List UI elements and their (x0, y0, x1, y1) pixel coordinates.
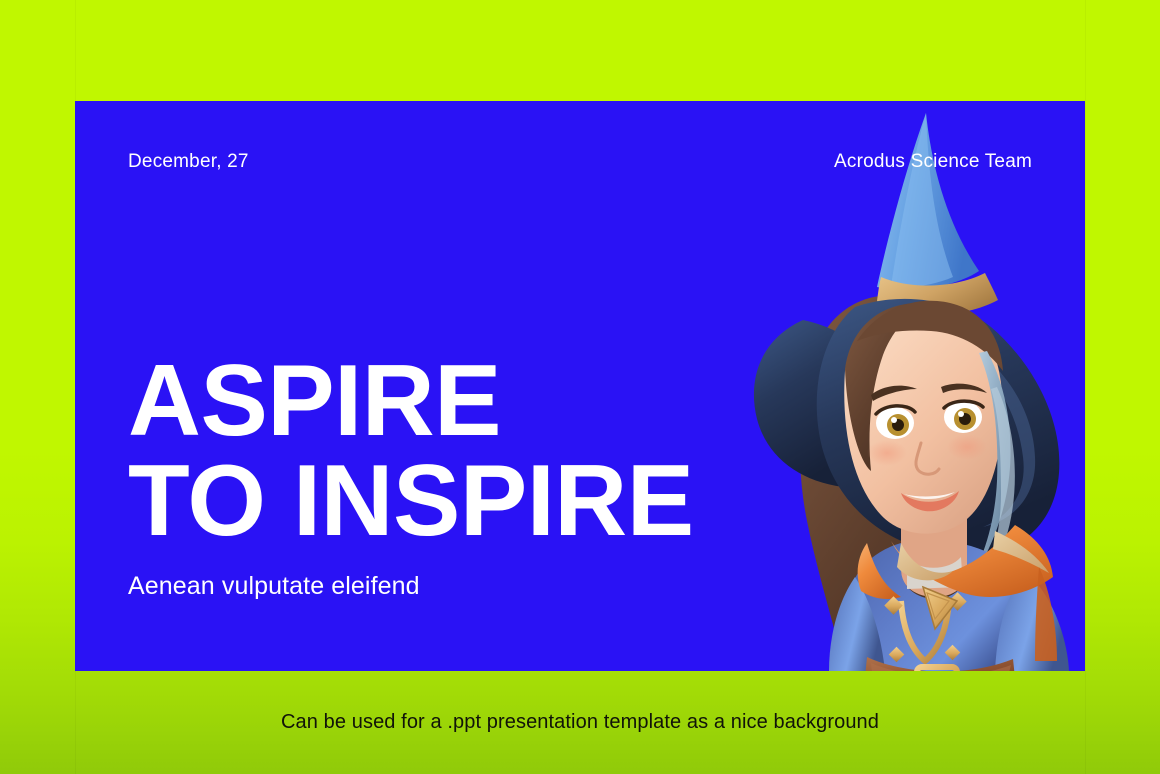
iris-left (887, 414, 909, 436)
cape-left (858, 543, 901, 599)
hair-front-left (845, 303, 925, 471)
robe-torso (843, 543, 1039, 671)
hat-brim-highlight (949, 337, 1035, 527)
robe-gem-left (884, 596, 902, 614)
iris-right (954, 408, 976, 430)
slide-header: December, 27 Acrodus Science Team (128, 151, 1032, 173)
belt (863, 657, 1017, 671)
undershirt (907, 557, 963, 589)
neck (901, 517, 967, 597)
belt-buckle (917, 667, 957, 671)
headline-line-1: ASPIRE (128, 351, 694, 451)
slide-subtitle: Aenean vulputate eleifend (128, 572, 694, 601)
eyelash-left (876, 406, 915, 414)
slide-date: December, 27 (128, 151, 249, 173)
hat-brim-main (817, 299, 1060, 555)
eye-right-white (944, 401, 982, 433)
brooch-engraving (927, 593, 949, 619)
eyebrow-right (941, 384, 987, 393)
presentation-slide: December, 27 Acrodus Science Team ASPIRE… (75, 101, 1085, 671)
eye-highlight-left (891, 417, 897, 423)
face (844, 303, 1002, 534)
belt-highlight (871, 663, 1011, 671)
cheek-right (947, 434, 987, 460)
hat-cone-highlight (891, 113, 953, 287)
robe-gem-right (948, 592, 966, 610)
headline-block: ASPIRE TO INSPIRE Aenean vulputate eleif… (128, 351, 694, 601)
mouth (901, 491, 959, 511)
slide-canvas: December, 27 Acrodus Science Team ASPIRE… (0, 0, 1160, 774)
cape-tail (1035, 567, 1057, 661)
hat-band (877, 273, 998, 314)
nose (916, 443, 939, 474)
eyelash-right (944, 401, 983, 408)
sleeve-right (995, 571, 1069, 671)
cape-right (891, 525, 1053, 597)
hair-strand-light-2 (967, 387, 1015, 607)
brooch (923, 587, 957, 629)
robe-trim-v (901, 601, 949, 661)
hat-cone (877, 113, 979, 290)
sleeve-left (829, 577, 885, 671)
hair-back (800, 295, 1008, 671)
pupil-right (959, 413, 971, 425)
eye-left-white (876, 407, 914, 439)
robe-gem-right-2 (945, 645, 961, 661)
cape-inner-fold (897, 543, 953, 580)
hat-brim-left (754, 320, 861, 487)
hair-strand-light-1 (957, 351, 1011, 599)
slide-team-name: Acrodus Science Team (834, 151, 1032, 173)
hair-top-fringe (857, 301, 1003, 371)
teeth (904, 492, 955, 499)
headline-line-2: TO INSPIRE (128, 451, 694, 551)
eyebrow-left (871, 386, 917, 401)
cheek-left (867, 440, 907, 466)
cape-roll-highlight (993, 531, 1049, 573)
page-caption: Can be used for a .ppt presentation temp… (0, 711, 1160, 734)
pupil-left (892, 419, 904, 431)
wizard-girl-illustration (695, 101, 1085, 671)
eye-highlight-right (958, 411, 964, 417)
robe-gem-left-2 (889, 647, 905, 663)
